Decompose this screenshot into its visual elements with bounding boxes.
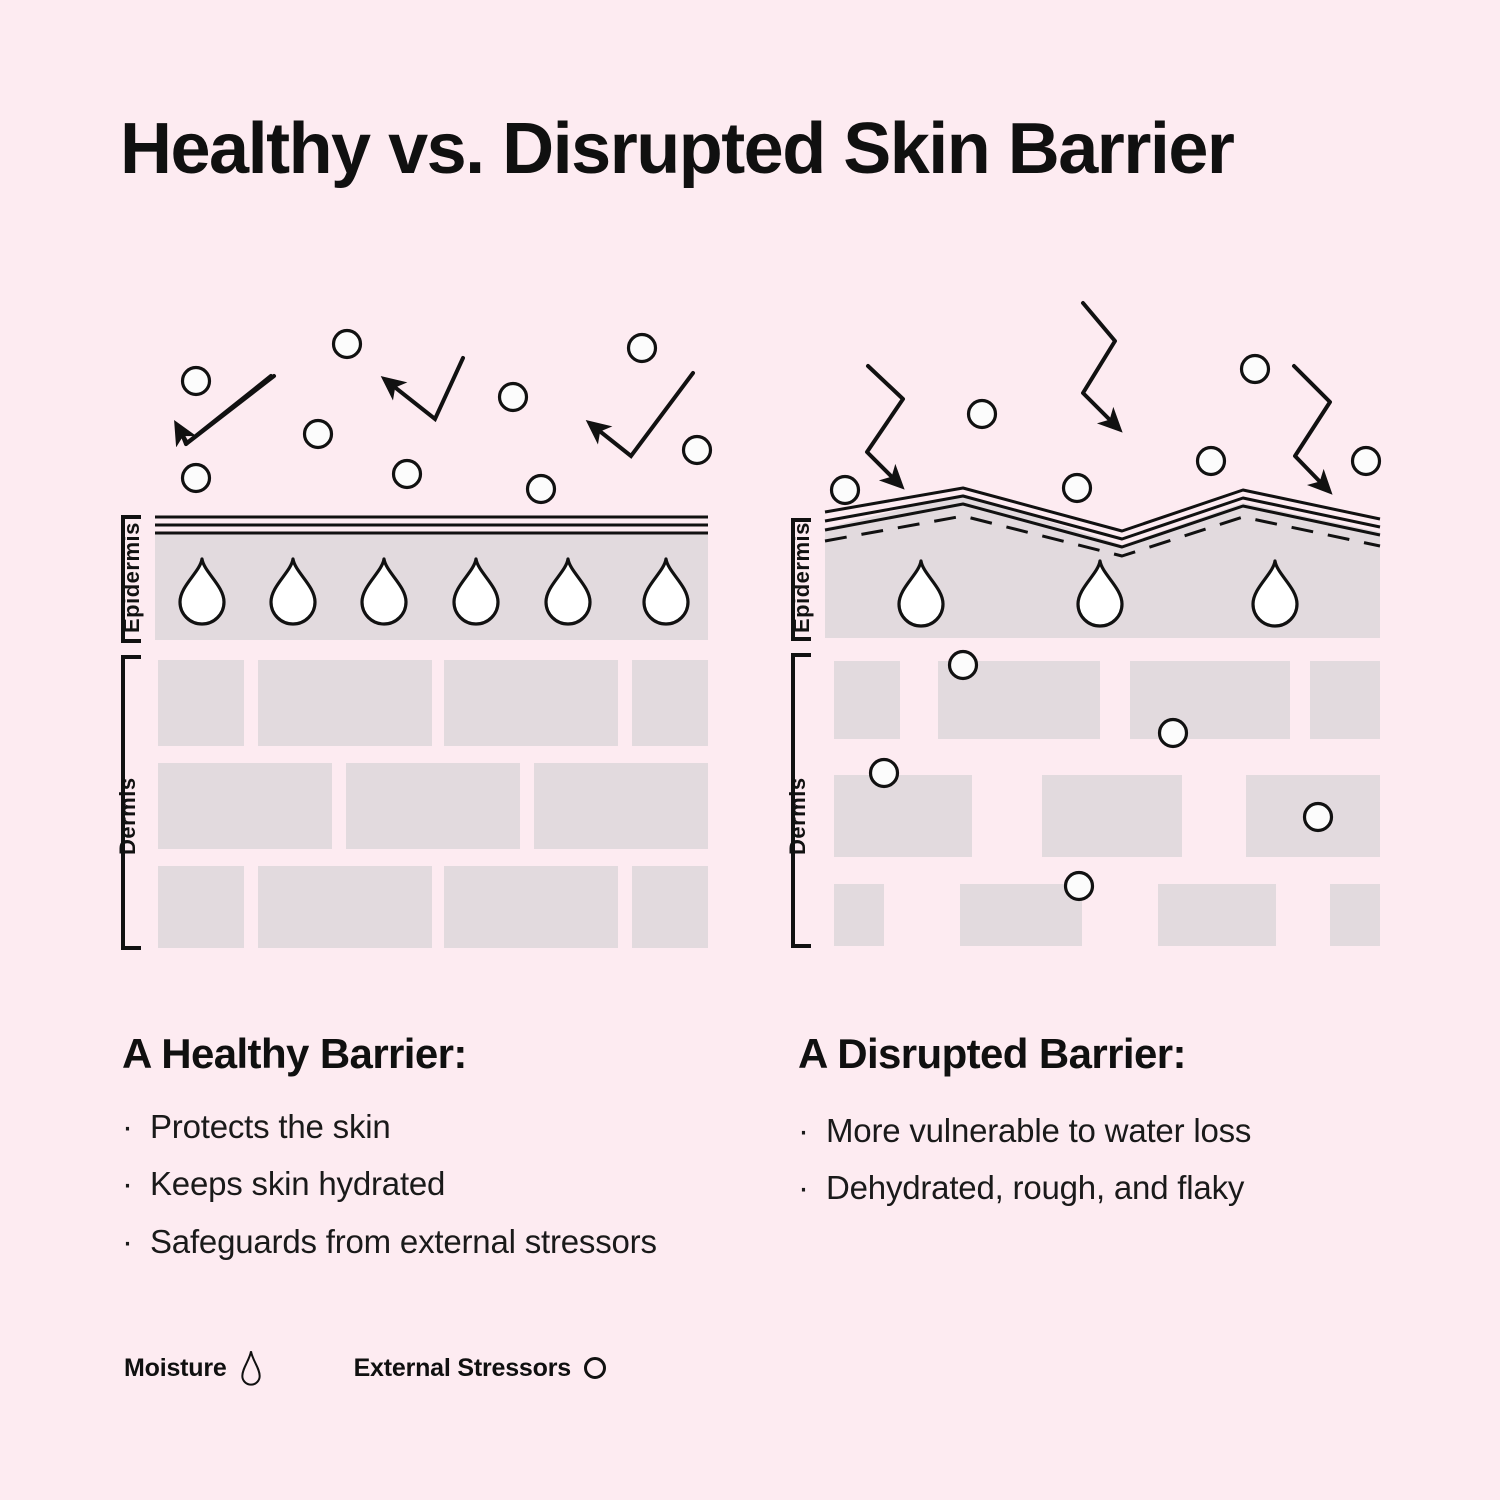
- dermis-label-disrupted: Dermis: [738, 782, 858, 822]
- healthy-barrier-bullet-list: · Protects the skin · Keeps skin hydrate…: [122, 1108, 762, 1280]
- bullet-marker: ·: [122, 1108, 150, 1146]
- epidermis-layer-healthy: [155, 532, 708, 640]
- list-item: · Keeps skin hydrated: [122, 1165, 762, 1203]
- dermis-bricks-healthy: [158, 660, 708, 948]
- healthy-panel-graphic: [123, 331, 711, 949]
- bullet-marker: ·: [798, 1112, 826, 1150]
- page-title: Healthy vs. Disrupted Skin Barrier: [120, 108, 1233, 190]
- disrupted-panel-graphic: [793, 303, 1380, 946]
- barrier-crack-dashed-line: [825, 516, 1380, 556]
- bullet-marker: ·: [122, 1165, 150, 1203]
- list-item: · Protects the skin: [122, 1108, 762, 1146]
- dermis-bricks-disrupted: [834, 661, 1380, 946]
- barrier-surface-lines-healthy: [155, 517, 708, 533]
- epidermis-layer-disrupted: [825, 494, 1380, 638]
- list-item-label: Keeps skin hydrated: [150, 1165, 445, 1203]
- bullet-marker: ·: [798, 1169, 826, 1207]
- circle-outline-icon: [582, 1355, 608, 1381]
- disrupted-barrier-heading: A Disrupted Barrier:: [798, 1030, 1186, 1078]
- external-stressors-above-disrupted: [832, 356, 1380, 526]
- legend: Moisture External Stressors: [124, 1348, 608, 1388]
- list-item-label: Safeguards from external stressors: [150, 1223, 657, 1261]
- moisture-droplets-healthy: [180, 559, 688, 624]
- legend-label: External Stressors: [354, 1354, 571, 1383]
- water-droplet-icon: [238, 1348, 264, 1388]
- healthy-barrier-heading: A Healthy Barrier:: [122, 1030, 467, 1078]
- list-item-label: More vulnerable to water loss: [826, 1112, 1251, 1150]
- list-item-label: Dehydrated, rough, and flaky: [826, 1169, 1244, 1207]
- barrier-surface-lines-disrupted: [825, 488, 1380, 547]
- list-item: · Safeguards from external stressors: [122, 1223, 762, 1261]
- legend-item-moisture: Moisture: [124, 1348, 264, 1388]
- disrupted-barrier-bullet-list: · More vulnerable to water loss · Dehydr…: [798, 1112, 1398, 1227]
- dermis-label-healthy: Dermis: [68, 782, 188, 822]
- moisture-droplets-disrupted: [899, 561, 1297, 626]
- list-item-label: Protects the skin: [150, 1108, 391, 1146]
- list-item: · Dehydrated, rough, and flaky: [798, 1169, 1398, 1207]
- deflected-stressor-arrows-healthy: [178, 358, 693, 456]
- legend-label: Moisture: [124, 1354, 227, 1383]
- external-stressors-inside-disrupted: [871, 652, 1332, 900]
- legend-item-external-stressors: External Stressors: [354, 1354, 608, 1383]
- penetrating-stressor-arrows-disrupted: [867, 303, 1330, 489]
- bullet-marker: ·: [122, 1223, 150, 1261]
- epidermis-label-healthy: Epidermis: [72, 560, 192, 600]
- epidermis-label-disrupted: Epidermis: [742, 560, 862, 600]
- list-item: · More vulnerable to water loss: [798, 1112, 1398, 1150]
- external-stressors-healthy: [183, 331, 711, 503]
